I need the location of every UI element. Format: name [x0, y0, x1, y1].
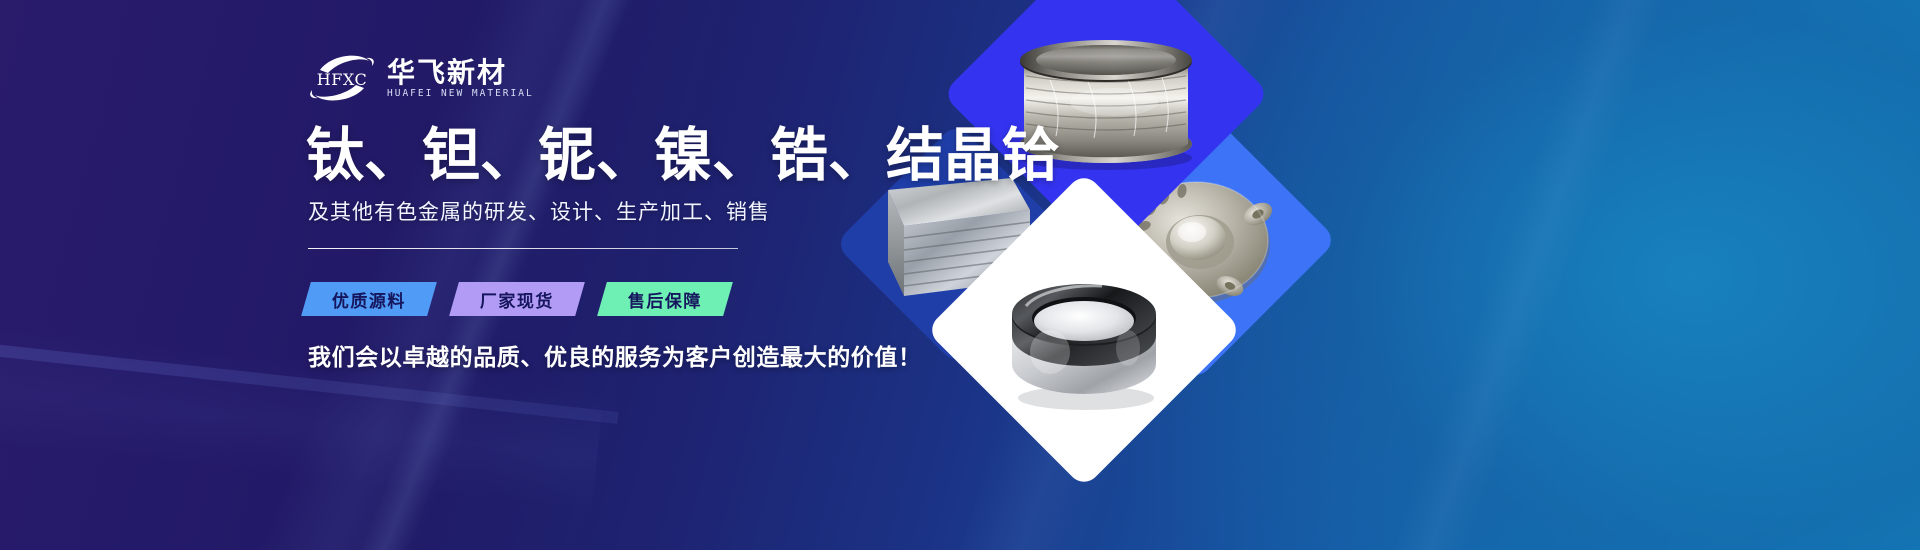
brand-name-en: HUAFEI NEW MATERIAL: [387, 89, 534, 99]
hero-content: HFXC 华飞新材 HUAFEI NEW MATERIAL 钛、钽、铌、镍、锆、…: [306, 0, 1006, 550]
hero-subtitle: 及其他有色金属的研发、设计、生产加工、销售: [308, 196, 770, 226]
hero-headline: 钛、钽、铌、镍、锆、结晶铪: [306, 124, 1060, 187]
hero-tagline: 我们会以卓越的品质、优良的服务为客户创造最大的价值！: [308, 338, 922, 372]
hfxc-logo-mark: HFXC: [306, 52, 378, 104]
feature-badge-label: 售后保障: [628, 287, 702, 312]
brand-logo[interactable]: HFXC 华飞新材 HUAFEI NEW MATERIAL: [306, 52, 534, 104]
brand-name-cn: 华飞新材: [387, 59, 534, 87]
brand-wordmark: 华飞新材 HUAFEI NEW MATERIAL: [387, 57, 534, 99]
hero-divider: [308, 248, 738, 249]
feature-badge[interactable]: 优质源料: [301, 282, 437, 316]
feature-badge[interactable]: 厂家现货: [449, 282, 585, 316]
product-collage: [860, 0, 1920, 550]
logo-mark-text: HFXC: [317, 70, 367, 89]
feature-badge-label: 厂家现货: [480, 287, 554, 312]
feature-badge-group: 优质源料厂家现货售后保障: [306, 282, 728, 316]
feature-badge[interactable]: 售后保障: [597, 282, 733, 316]
swoosh-arc-icon: HFXC: [306, 52, 378, 104]
feature-badge-label: 优质源料: [332, 287, 406, 312]
hero-banner: HFXC 华飞新材 HUAFEI NEW MATERIAL 钛、钽、铌、镍、锆、…: [0, 0, 1920, 550]
